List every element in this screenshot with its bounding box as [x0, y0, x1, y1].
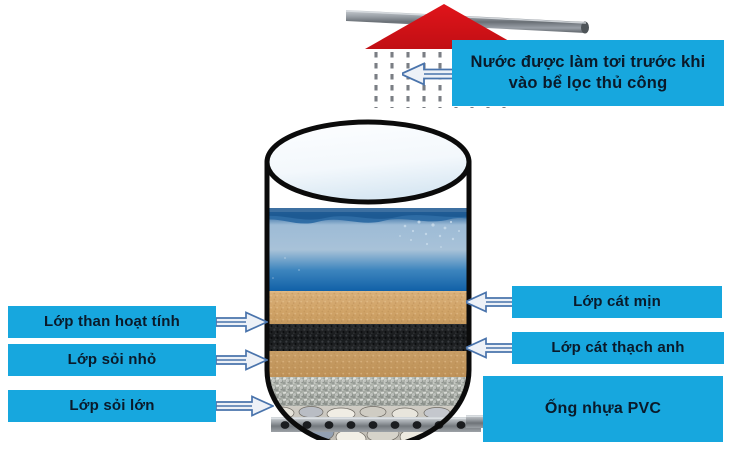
label-top-inlet-text: Nước được làm tơi trước khi vào bể lọc t…	[462, 52, 714, 93]
layer-fine-sand	[255, 291, 481, 325]
label-quartz-sand-text: Lớp cát thạch anh	[551, 339, 684, 358]
arrow-right-icon	[216, 349, 268, 371]
layer-activated-carbon	[255, 324, 481, 352]
label-quartz-sand[interactable]: Lớp cát thạch anh	[512, 332, 724, 364]
label-pvc-pipe[interactable]: Ống nhựa PVC	[483, 376, 723, 442]
label-fine-sand-text: Lớp cát mịn	[573, 293, 661, 312]
label-activated-carbon-text: Lớp than hoạt tính	[44, 313, 180, 332]
arrow-left-icon	[402, 62, 456, 86]
label-large-gravel[interactable]: Lớp sỏi lớn	[8, 390, 216, 422]
tank-top-opening	[267, 122, 469, 202]
layer-water	[255, 208, 481, 292]
label-pvc-pipe-text: Ống nhựa PVC	[545, 399, 661, 419]
layer-quartz-sand	[255, 351, 481, 378]
arrow-right-icon	[216, 395, 274, 417]
filter-diagram-canvas: Nước được làm tơi trước khi vào bể lọc t…	[0, 0, 730, 450]
tank-svg	[255, 118, 481, 440]
arrow-left-icon	[466, 291, 516, 313]
label-small-gravel-text: Lớp sỏi nhỏ	[68, 351, 157, 370]
label-top-inlet[interactable]: Nước được làm tơi trước khi vào bể lọc t…	[452, 40, 724, 106]
label-large-gravel-text: Lớp sỏi lớn	[69, 397, 154, 416]
filter-tank-icon	[255, 118, 481, 440]
layer-small-gravel	[255, 377, 481, 409]
label-fine-sand[interactable]: Lớp cát mịn	[512, 286, 722, 318]
label-small-gravel[interactable]: Lớp sỏi nhỏ	[8, 344, 216, 376]
arrow-left-icon	[466, 337, 516, 359]
arrow-right-icon	[216, 311, 268, 333]
label-activated-carbon[interactable]: Lớp than hoạt tính	[8, 306, 216, 338]
